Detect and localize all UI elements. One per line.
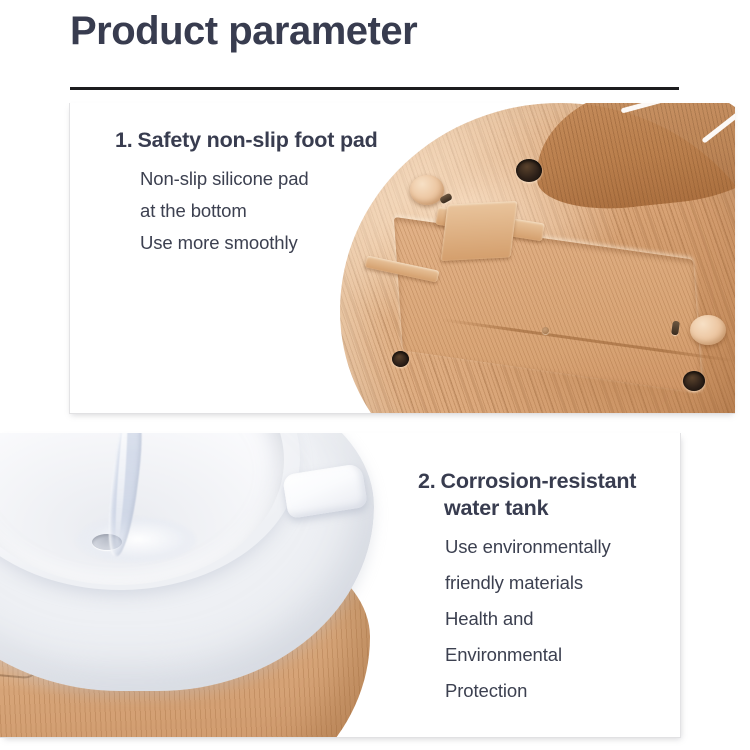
feature-1-number: 1. (115, 128, 133, 152)
silicone-foot-pad (410, 175, 444, 205)
feature-1-text: 1.Safety non-slip foot pad Non-slip sili… (115, 127, 378, 259)
feature-1-heading: 1.Safety non-slip foot pad (115, 127, 378, 154)
feature-2-number: 2. (418, 469, 436, 493)
screw-hole (392, 351, 409, 367)
feature-panel-1: 1.Safety non-slip foot pad Non-slip sili… (69, 103, 735, 414)
water-tank-photo: H ON MIST (0, 433, 450, 738)
feature-2-body-line: friendly materials (445, 565, 636, 601)
base-pin-hole (542, 327, 549, 334)
product-parameter-page: Product parameter (0, 0, 750, 750)
feature-2-heading: 2.Corrosion-resistant water tank (418, 468, 636, 522)
feature-1-body: Non-slip silicone pad at the bottom Use … (140, 163, 378, 259)
screw-hole (683, 371, 705, 391)
feature-2-body-line: Environmental (445, 637, 636, 673)
feature-1-body-line: at the bottom (140, 195, 378, 227)
feature-1-heading-text: Safety non-slip foot pad (138, 128, 378, 152)
feature-2-body: Use environmentally friendly materials H… (445, 529, 636, 709)
silicone-foot-pad (690, 315, 726, 345)
screw-hole (516, 159, 542, 182)
fan-vent-icon (470, 375, 580, 414)
feature-1-body-line: Use more smoothly (140, 227, 378, 259)
base-ridge (441, 201, 518, 261)
feature-2-body-line: Health and (445, 601, 636, 637)
feature-2-heading-text-line2: water tank (444, 495, 636, 522)
feature-2-heading-text: Corrosion-resistant (441, 469, 637, 493)
page-title: Product parameter (70, 8, 417, 54)
feature-2-body-line: Use environmentally (445, 529, 636, 565)
feature-2-body-line: Protection (445, 673, 636, 709)
feature-1-body-line: Non-slip silicone pad (140, 163, 378, 195)
feature-2-text: 2.Corrosion-resistant water tank Use env… (418, 468, 636, 709)
feature-panel-2: H ON MIST 2.Corrosion-resistant water ta… (0, 433, 681, 738)
title-divider (70, 87, 679, 90)
diffuser-base-photo (320, 103, 735, 414)
